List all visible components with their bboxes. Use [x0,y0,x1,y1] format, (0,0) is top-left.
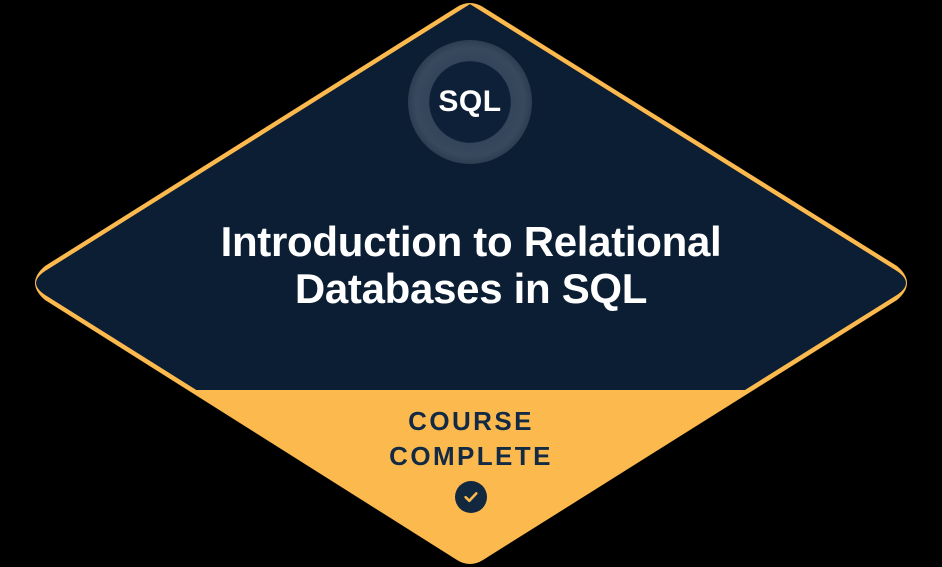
badge-diamond-shape [0,0,942,567]
badge-navy-panel-top [0,0,942,390]
course-completion-badge: SQL Introduction to Relational Databases… [0,0,942,567]
